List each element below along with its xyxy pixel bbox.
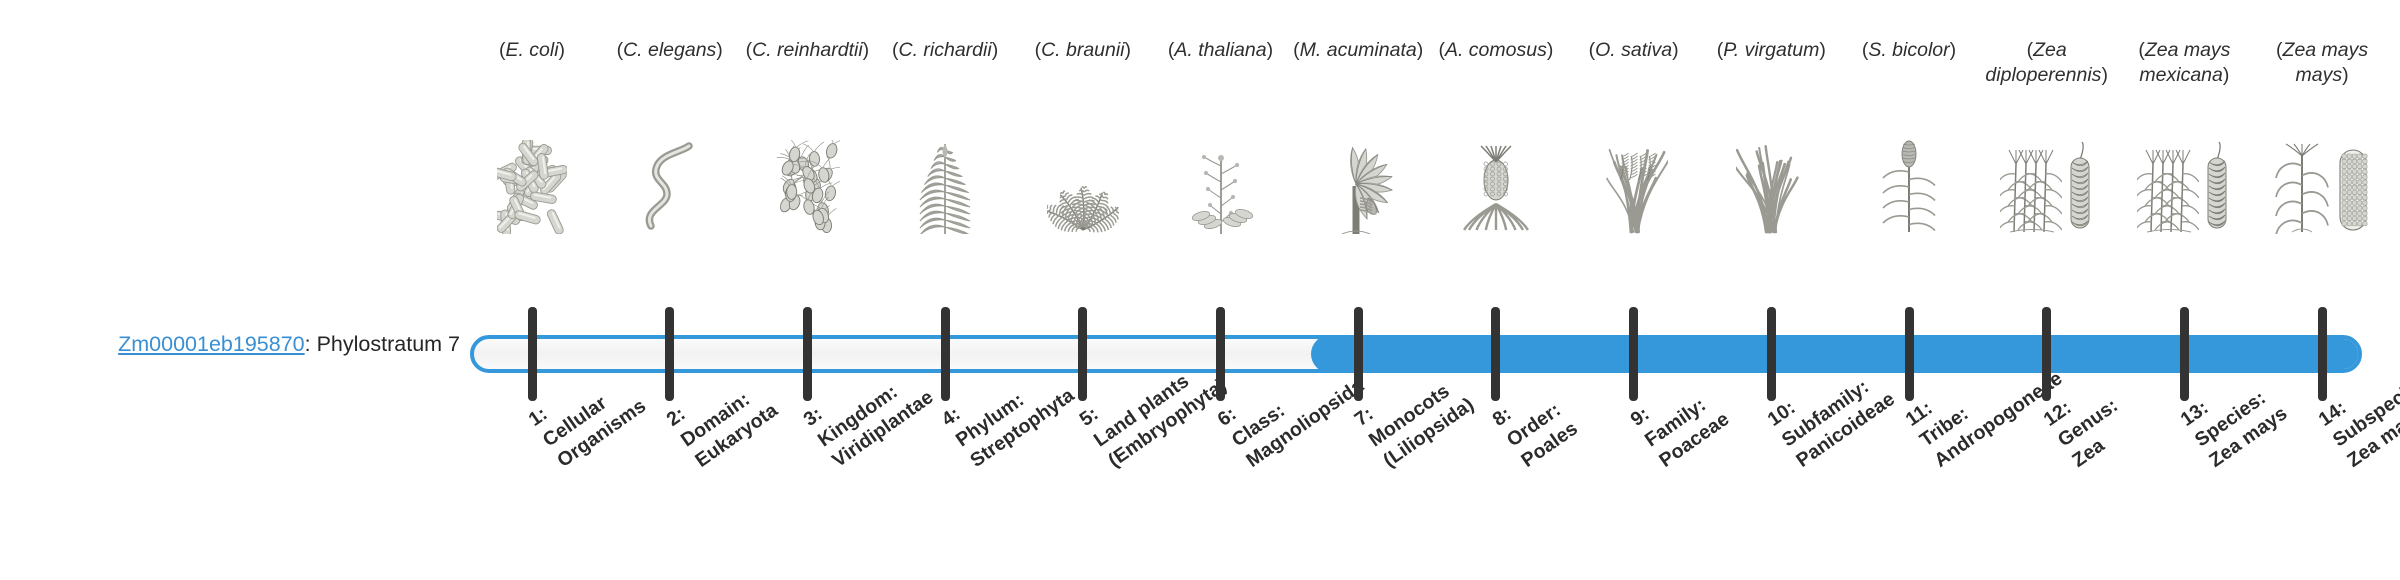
bacteria-illustration xyxy=(466,138,598,234)
timeline-tick-13[interactable] xyxy=(2180,307,2189,401)
teosinte-mexicana-illustration xyxy=(2118,138,2250,234)
species-column-1: (E. coli) xyxy=(463,30,601,63)
timeline-tick-12[interactable] xyxy=(2042,307,2051,401)
species-latin-name: (P. virgatum) xyxy=(1702,38,1840,63)
species-column-8: (A. comosus) xyxy=(1427,30,1565,63)
pineapple-illustration xyxy=(1430,138,1562,234)
species-latin-text: C. reinhardtii xyxy=(752,39,863,61)
species-latin-name: (C. reinhardtii) xyxy=(738,38,876,63)
timeline-tick-10[interactable] xyxy=(1767,307,1776,401)
species-column-12: (Zea diploperennis) xyxy=(1978,30,2116,88)
species-latin-text: Zea mays mexicana xyxy=(2139,39,2230,86)
timeline-tick-5[interactable] xyxy=(1078,307,1087,401)
sorghum-illustration xyxy=(1843,138,1975,234)
species-latin-text: C. braunii xyxy=(1041,39,1124,61)
species-latin-name: (A. thaliana) xyxy=(1152,38,1290,63)
species-column-9: (O. sativa) xyxy=(1565,30,1703,63)
species-column-3: (C. reinhardtii) xyxy=(738,30,876,63)
timeline-tick-1[interactable] xyxy=(528,307,537,401)
species-column-13: (Zea mays mexicana) xyxy=(2115,30,2253,88)
species-latin-text: Zea diploperennis xyxy=(1985,39,2101,86)
fern-illustration xyxy=(1017,138,1149,234)
timeline-tick-4[interactable] xyxy=(941,307,950,401)
species-latin-text: A. thaliana xyxy=(1174,39,1266,61)
species-latin-text: C. richardii xyxy=(899,39,992,61)
timeline-tick-6[interactable] xyxy=(1216,307,1225,401)
species-latin-text: P. virgatum xyxy=(1723,39,1819,61)
species-column-2: (C. elegans) xyxy=(601,30,739,63)
maize-illustration xyxy=(2256,138,2388,234)
species-columns: (E. coli)1: Cellular Organisms(C. elegan… xyxy=(0,0,2400,580)
species-column-5: (C. braunii) xyxy=(1014,30,1152,63)
species-latin-name: (Zea mays mays) xyxy=(2253,38,2391,88)
timeline-tick-3[interactable] xyxy=(803,307,812,401)
banana-illustration xyxy=(1292,138,1424,234)
species-latin-text: O. sativa xyxy=(1595,39,1672,61)
species-latin-text: S. bicolor xyxy=(1868,39,1949,61)
species-latin-text: Zea mays mays xyxy=(2283,39,2369,86)
timeline-tick-8[interactable] xyxy=(1491,307,1500,401)
timeline-tick-9[interactable] xyxy=(1629,307,1638,401)
species-latin-name: (Zea mays mexicana) xyxy=(2115,38,2253,88)
species-latin-text: E. coli xyxy=(505,39,558,61)
species-column-6: (A. thaliana) xyxy=(1152,30,1290,63)
species-latin-name: (S. bicolor) xyxy=(1840,38,1978,63)
stonewort-illustration xyxy=(879,138,1011,234)
species-latin-name: (M. acuminata) xyxy=(1289,38,1427,63)
worm-illustration xyxy=(604,138,736,234)
species-latin-name: (E. coli) xyxy=(463,38,601,63)
species-column-11: (S. bicolor) xyxy=(1840,30,1978,63)
species-column-7: (M. acuminata) xyxy=(1289,30,1427,63)
species-column-10: (P. virgatum) xyxy=(1702,30,1840,63)
species-latin-name: (C. braunii) xyxy=(1014,38,1152,63)
phylostratum-figure: Zm00001eb195870: Phylostratum 7 (E. coli… xyxy=(0,0,2400,580)
timeline-tick-11[interactable] xyxy=(1905,307,1914,401)
switchgrass-illustration xyxy=(1705,138,1837,234)
algae-illustration xyxy=(741,138,873,234)
timeline-tick-7[interactable] xyxy=(1354,307,1363,401)
arabidopsis-illustration xyxy=(1155,138,1287,234)
species-latin-text: M. acuminata xyxy=(1300,39,1417,61)
species-latin-name: (Zea diploperennis) xyxy=(1978,38,2116,88)
timeline-tick-2[interactable] xyxy=(665,307,674,401)
timeline-tick-14[interactable] xyxy=(2318,307,2327,401)
species-latin-text: C. elegans xyxy=(623,39,716,61)
species-column-4: (C. richardii) xyxy=(876,30,1014,63)
rice-illustration xyxy=(1568,138,1700,234)
species-column-14: (Zea mays mays) xyxy=(2253,30,2391,88)
species-latin-name: (A. comosus) xyxy=(1427,38,1565,63)
species-latin-name: (O. sativa) xyxy=(1565,38,1703,63)
species-latin-text: A. comosus xyxy=(1445,39,1547,61)
species-latin-name: (C. richardii) xyxy=(876,38,1014,63)
species-latin-name: (C. elegans) xyxy=(601,38,739,63)
teosinte-diploperennis-illustration xyxy=(1981,138,2113,234)
